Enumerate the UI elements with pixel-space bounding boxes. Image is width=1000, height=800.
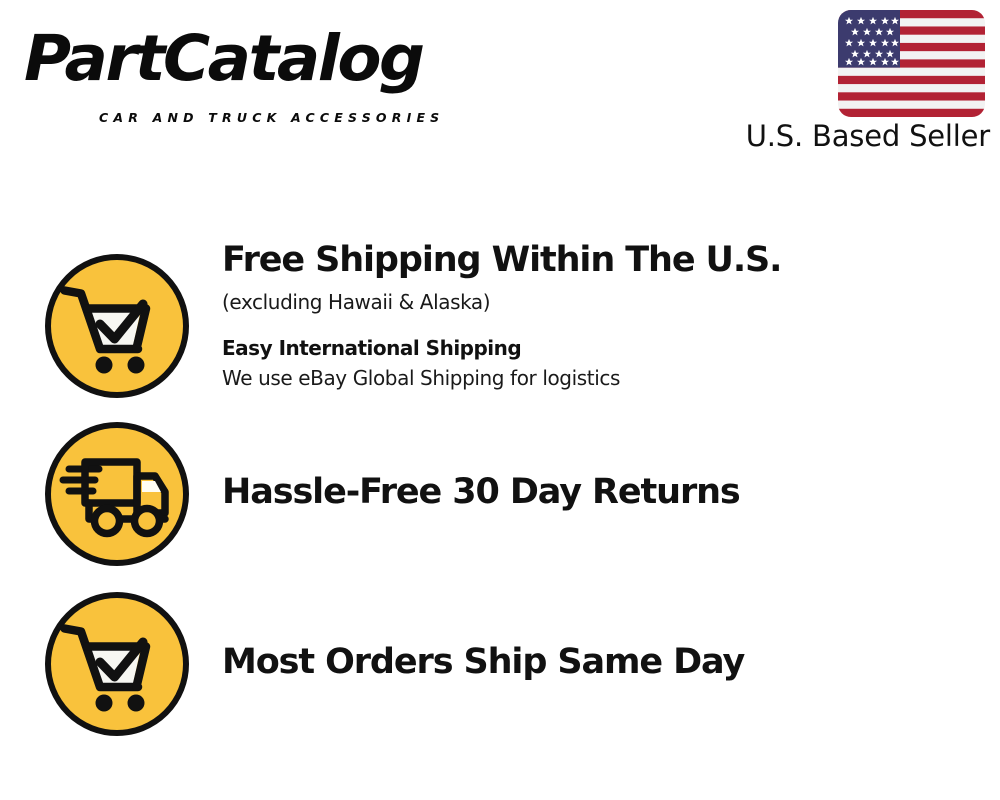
feature-subtitle-bold: Easy International Shipping (222, 333, 992, 363)
feature-same-day-shipping: Most Orders Ship Same Day (0, 590, 1000, 740)
feature-title: Free Shipping Within The U.S. (222, 238, 992, 282)
feature-returns: Hassle-Free 30 Day Returns (0, 420, 1000, 570)
feature-text-block: Most Orders Ship Same Day (222, 640, 992, 684)
feature-text-block: Hassle-Free 30 Day Returns (222, 470, 992, 514)
feature-list: Free Shipping Within The U.S. (excluding… (0, 0, 1000, 800)
shopping-cart-check-icon (43, 590, 191, 738)
feature-title: Hassle-Free 30 Day Returns (222, 470, 992, 514)
delivery-truck-icon (43, 420, 191, 568)
feature-free-shipping: Free Shipping Within The U.S. (excluding… (0, 236, 1000, 411)
feature-exclusion-note: (excluding Hawaii & Alaska) (222, 287, 992, 317)
feature-title: Most Orders Ship Same Day (222, 640, 992, 684)
feature-text-block: Free Shipping Within The U.S. (excluding… (222, 236, 992, 393)
shopping-cart-check-icon (43, 252, 191, 400)
feature-subtitle: We use eBay Global Shipping for logistic… (222, 363, 992, 393)
